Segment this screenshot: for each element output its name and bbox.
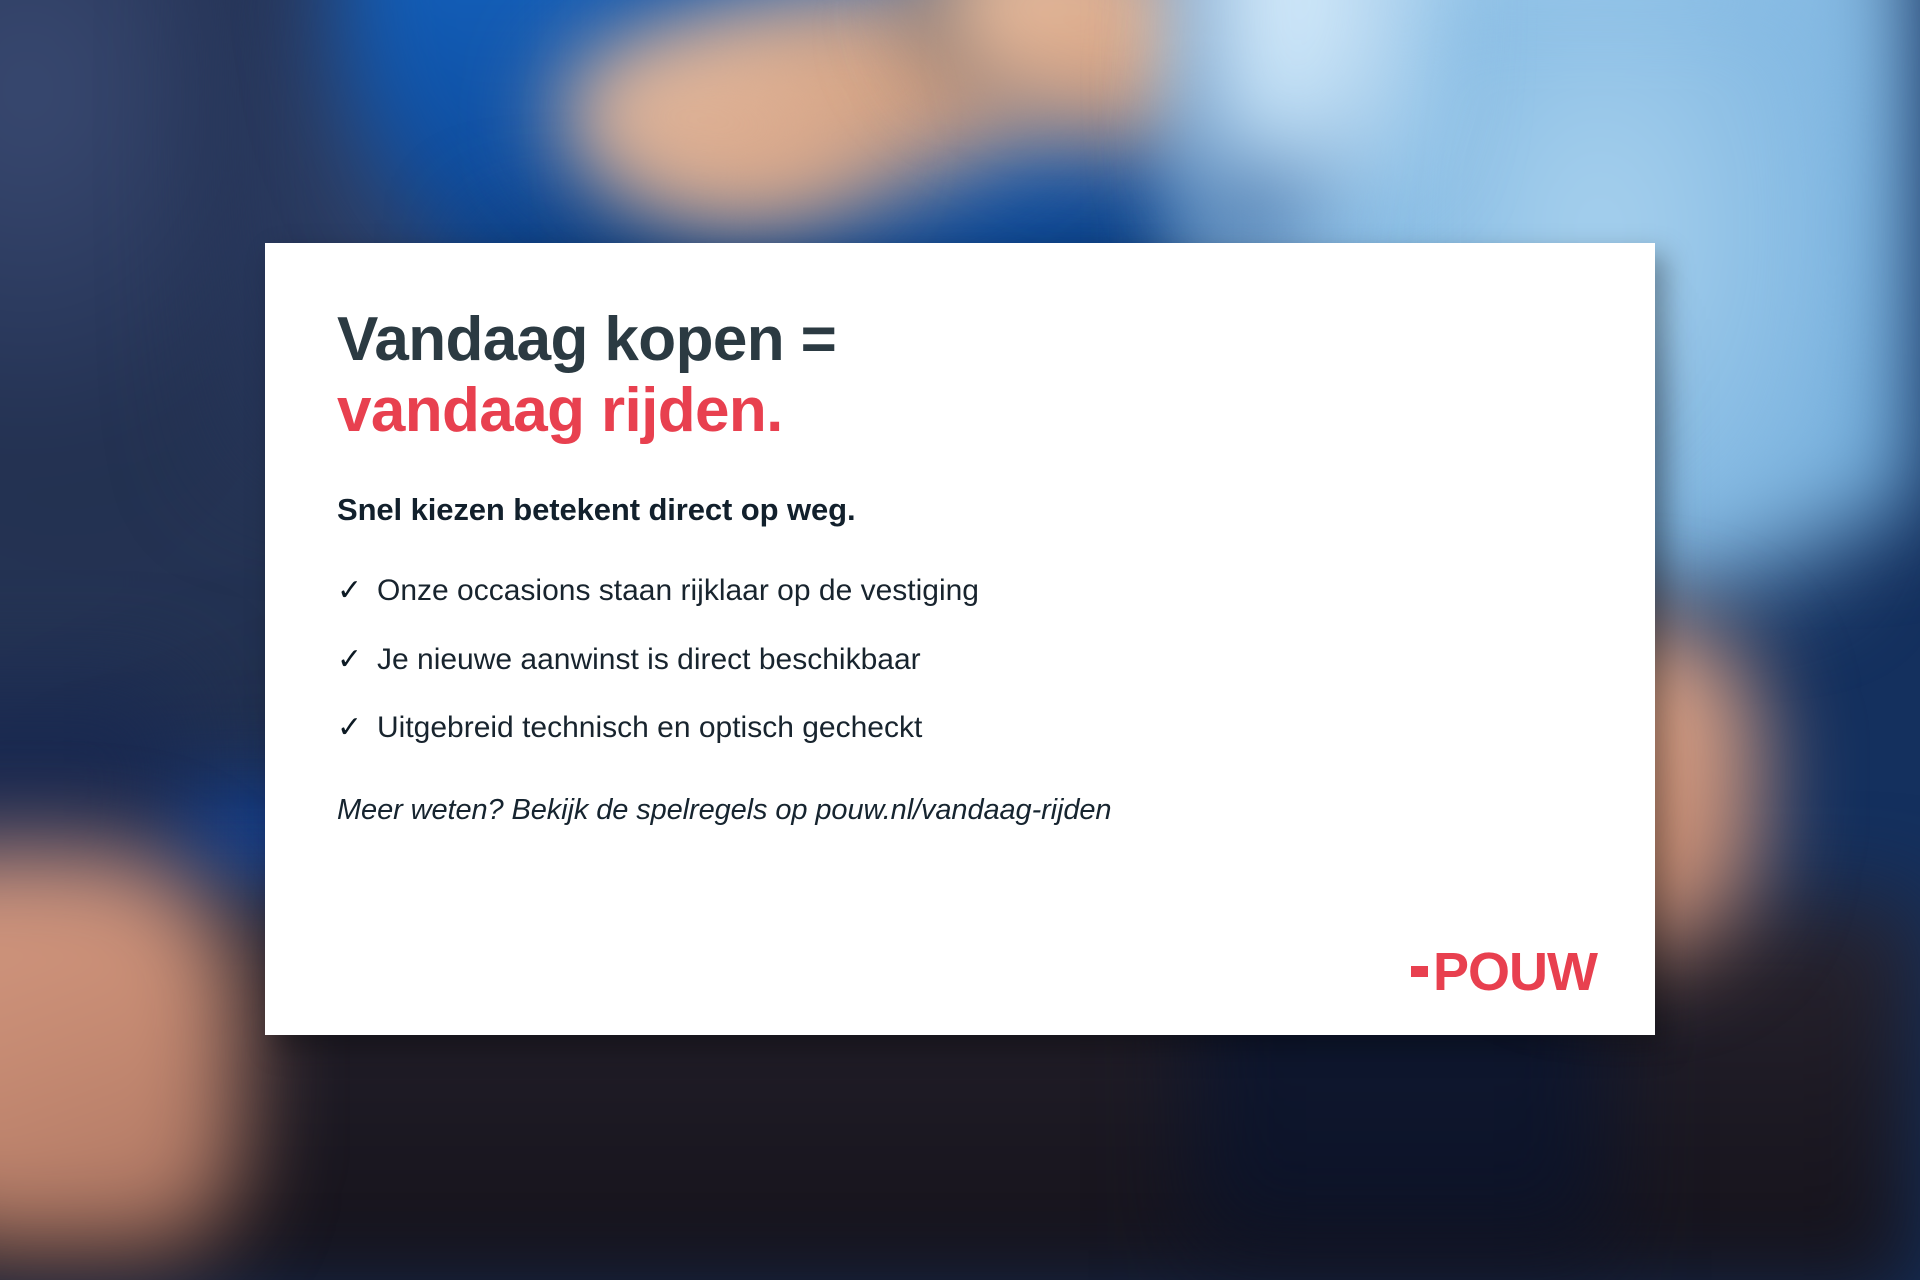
advertisement-creative: Vandaag kopen = vandaag rijden. Snel kie… [0, 0, 1920, 1280]
check-icon: ✓ [337, 645, 377, 675]
footnote-link[interactable]: Meer weten? Bekijk de spelregels op pouw… [337, 794, 1583, 827]
headline-line-2: vandaag rijden. [337, 376, 1583, 447]
list-item: ✓ Uitgebreid technisch en optisch gechec… [337, 711, 1583, 746]
list-item: ✓ Je nieuwe aanwinst is direct beschikba… [337, 643, 1583, 678]
logo-wordmark: POUW [1433, 945, 1597, 999]
benefit-text: Uitgebreid technisch en optisch gecheckt [377, 711, 922, 746]
shirt-highlight-shape [1190, 0, 1430, 190]
benefits-list: ✓ Onze occasions staan rijklaar op de ve… [337, 574, 1583, 746]
foreground-hand-left-shape [0, 850, 240, 1250]
logo-dash-icon [1411, 966, 1428, 977]
check-icon: ✓ [337, 713, 377, 743]
benefit-text: Je nieuwe aanwinst is direct beschikbaar [377, 643, 921, 678]
list-item: ✓ Onze occasions staan rijklaar op de ve… [337, 574, 1583, 609]
benefit-text: Onze occasions staan rijklaar op de vest… [377, 574, 979, 609]
message-card: Vandaag kopen = vandaag rijden. Snel kie… [265, 243, 1655, 1035]
check-icon: ✓ [337, 576, 377, 606]
page-title: Vandaag kopen = vandaag rijden. [337, 305, 1583, 446]
subheadline: Snel kiezen betekent direct op weg. [337, 492, 1583, 528]
headline-line-1: Vandaag kopen = [337, 305, 1583, 376]
pouw-logo[interactable]: POUW [1411, 945, 1597, 999]
